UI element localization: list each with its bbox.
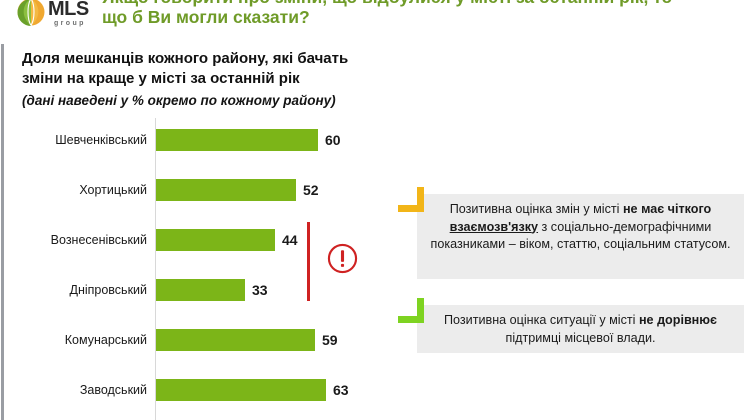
header-question-line-1: Якщо говорити про зміни, що відбулися у … [102, 0, 750, 7]
mls-leaf-logo-icon [16, 0, 46, 27]
chart-bar [156, 329, 315, 351]
low-scores-bracket [307, 222, 310, 301]
chart-bar-value: 59 [322, 318, 338, 362]
chart-bar [156, 379, 326, 401]
page-title-line-1: Доля мешканців кожного району, які бачат… [22, 49, 442, 69]
chart-row: Хортицький52 [0, 168, 395, 212]
callout-social-demographics: Позитивна оцінка змін у місті не має чіт… [417, 194, 744, 279]
chart-bar [156, 179, 296, 201]
chart-bar [156, 229, 275, 251]
callout-local-authority: Позитивна оцінка ситуації у місті не дор… [417, 305, 744, 353]
chart-bar [156, 279, 245, 301]
chart-row: Шевченківський60 [0, 118, 395, 162]
header-question-line-2: що б Ви могли сказати? [102, 7, 750, 27]
chart-category-label: Шевченківський [55, 118, 147, 162]
chart-bar-value: 44 [282, 218, 298, 262]
corner-bracket-icon-green [398, 298, 424, 324]
brand-name: MLS [48, 0, 89, 19]
chart-category-label: Хортицький [79, 168, 147, 212]
chart-category-label: Вознесенівський [51, 218, 147, 262]
page-title-line-2: зміни на краще у місті за останній рік [22, 69, 442, 89]
chart-bar [156, 129, 318, 151]
chart-row: Комунарський59 [0, 318, 395, 362]
slide-canvas: MLS group Якщо говорити про зміни, що ві… [0, 0, 750, 420]
exclamation-circle-icon [327, 243, 358, 274]
page-subtitle: (дані наведені у % окремо по кожному рай… [22, 92, 452, 110]
chart-bar-value: 63 [333, 368, 349, 412]
chart-category-label: Дніпровський [69, 268, 147, 312]
chart-row: Заводський63 [0, 368, 395, 412]
chart-bar-value: 52 [303, 168, 319, 212]
brand-logo[interactable]: MLS group [14, 0, 98, 40]
callout-local-authority-text: Позитивна оцінка ситуації у місті не дор… [417, 305, 744, 347]
slide-header: MLS group Якщо говорити про зміни, що ві… [0, 0, 750, 44]
callout-social-demographics-text: Позитивна оцінка змін у місті не має чіт… [417, 194, 744, 254]
chart-bar-value: 60 [325, 118, 341, 162]
chart-row: Дніпровський33 [0, 268, 395, 312]
brand-tagline: group [54, 20, 86, 27]
corner-bracket-icon-amber [398, 187, 424, 213]
chart-category-label: Комунарський [65, 318, 147, 362]
chart-bar-value: 33 [252, 268, 268, 312]
chart-category-label: Заводський [80, 368, 147, 412]
